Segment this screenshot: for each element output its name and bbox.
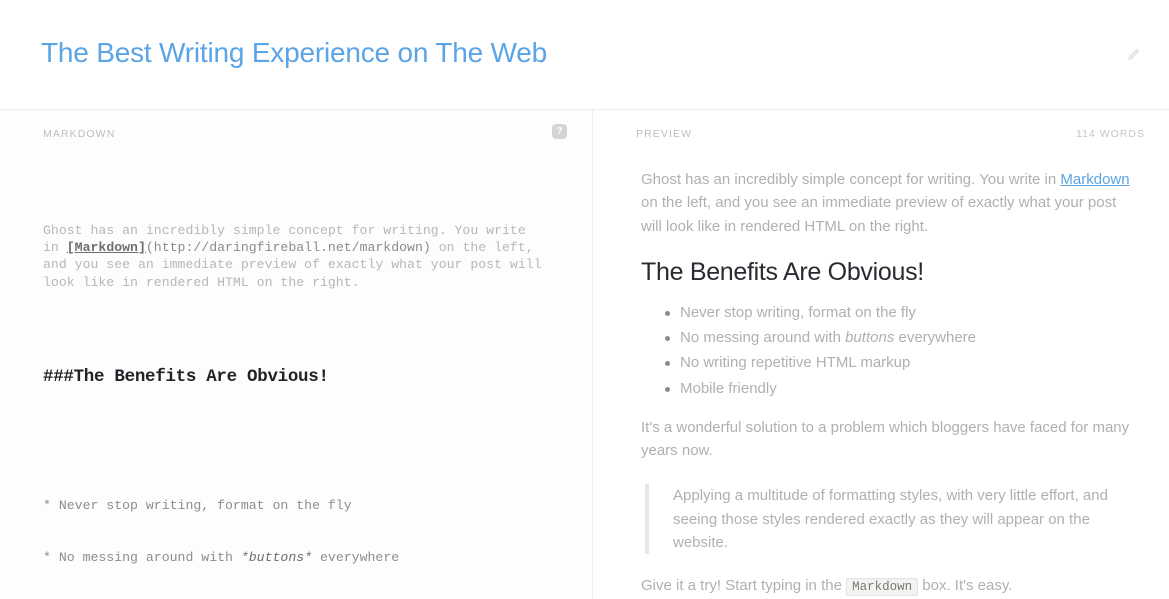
markdown-emphasis-token: *buttons* xyxy=(241,550,312,565)
markdown-list-item-2-part-b: everywhere xyxy=(312,550,399,565)
markdown-list-item-2: * No messing around with *buttons* every… xyxy=(43,549,548,566)
preview-content: Ghost has an incredibly simple concept f… xyxy=(593,158,1169,597)
preview-pane: PREVIEW 114 WORDS Ghost has an incredibl… xyxy=(593,110,1169,599)
list-item: No messing around with buttons everywher… xyxy=(641,326,1139,349)
word-count-badge: 114 WORDS xyxy=(1076,128,1145,140)
list-item: Mobile friendly xyxy=(641,377,1139,400)
preview-blockquote: Applying a multitude of formatting style… xyxy=(645,484,1135,554)
preview-pane-bar: PREVIEW 114 WORDS xyxy=(593,110,1169,158)
markdown-list-item-2-part-a: * No messing around with xyxy=(43,550,241,565)
pencil-icon xyxy=(1124,46,1142,64)
preview-markdown-link[interactable]: Markdown xyxy=(1060,171,1129,188)
preview-paragraph-1: Ghost has an incredibly simple concept f… xyxy=(641,168,1139,238)
editor-header: The Best Writing Experience on The Web xyxy=(0,0,1169,110)
preview-paragraph-3-part-b: box. It's easy. xyxy=(918,577,1012,594)
preview-heading: The Benefits Are Obvious! xyxy=(641,257,1139,287)
preview-paragraph-2: It's a wonderful solution to a problem w… xyxy=(641,416,1139,463)
markdown-pane-bar: MARKDOWN ? xyxy=(0,110,592,158)
markdown-link-token: [Markdown] xyxy=(67,240,146,255)
preview-list-item-2-part-b: everywhere xyxy=(894,329,976,346)
markdown-pane[interactable]: MARKDOWN ? Ghost has an incredibly simpl… xyxy=(0,110,593,599)
help-icon[interactable]: ? xyxy=(552,124,567,139)
markdown-heading-token: ###The Benefits Are Obvious! xyxy=(43,366,548,389)
markdown-list-item-1: * Never stop writing, format on the fly xyxy=(43,497,548,514)
markdown-list: * Never stop writing, format on the fly … xyxy=(43,462,548,599)
preview-inline-code: Markdown xyxy=(846,578,918,596)
markdown-pane-label: MARKDOWN xyxy=(43,128,115,140)
preview-pane-label: PREVIEW xyxy=(636,128,692,140)
preview-emphasis: buttons xyxy=(845,329,894,346)
list-item: No writing repetitive HTML markup xyxy=(641,351,1139,374)
preview-paragraph-3-part-a: Give it a try! Start typing in the xyxy=(641,577,846,594)
preview-list: Never stop writing, format on the fly No… xyxy=(641,301,1139,400)
markdown-url-token: (http://daringfireball.net/markdown) xyxy=(146,240,431,255)
page-title[interactable]: The Best Writing Experience on The Web xyxy=(41,37,547,69)
preview-paragraph-1-part-b: on the left, and you see an immediate pr… xyxy=(641,194,1116,234)
editor-split-panes: MARKDOWN ? Ghost has an incredibly simpl… xyxy=(0,110,1169,599)
preview-paragraph-1-part-a: Ghost has an incredibly simple concept f… xyxy=(641,171,1060,188)
preview-paragraph-3: Give it a try! Start typing in the Markd… xyxy=(641,574,1139,597)
preview-list-item-2-part-a: No messing around with xyxy=(680,329,845,346)
list-item: Never stop writing, format on the fly xyxy=(641,301,1139,324)
edit-title-button[interactable] xyxy=(1121,43,1145,67)
markdown-editor-textarea[interactable]: Ghost has an incredibly simple concept f… xyxy=(0,158,592,599)
markdown-paragraph-1: Ghost has an incredibly simple concept f… xyxy=(43,222,548,291)
